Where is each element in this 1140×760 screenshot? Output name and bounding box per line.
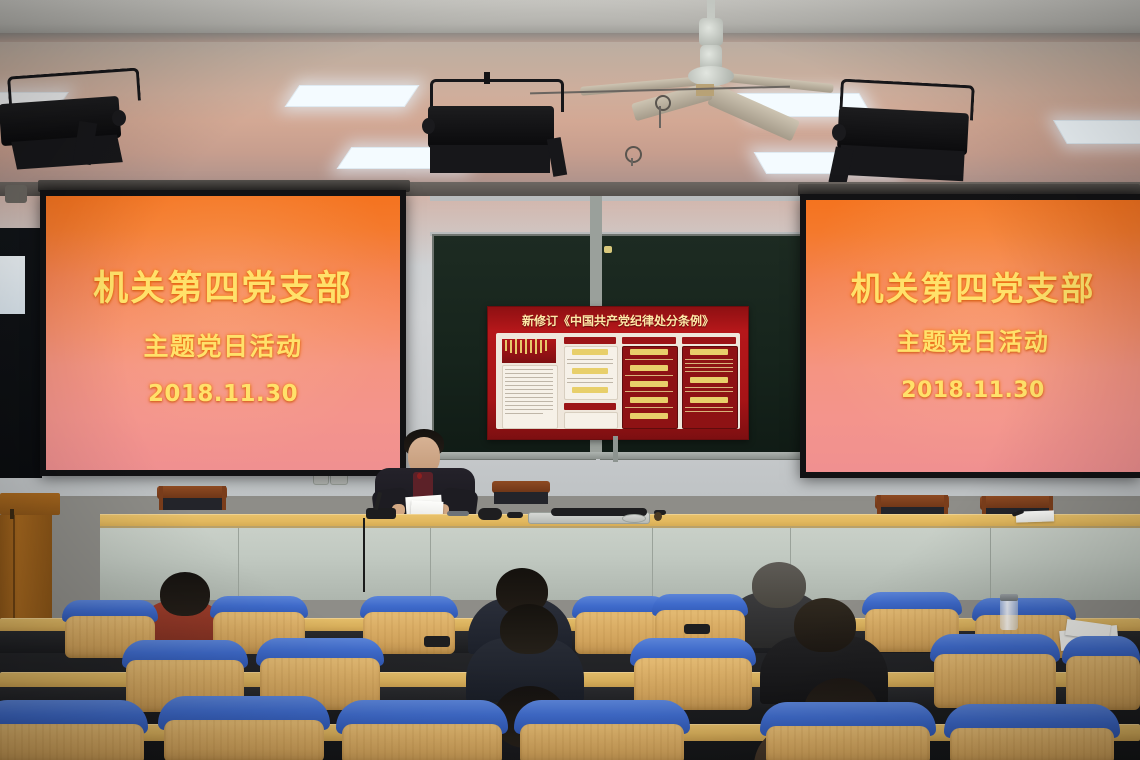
poster-photo-detail [530,340,532,353]
person-head [500,604,558,654]
poster-text-line [685,391,733,392]
audience-chair[interactable] [514,700,690,760]
speaker-collar-pin [417,473,422,479]
poster-chip [630,413,668,419]
ceiling-hook-icon [655,95,671,111]
poster-text-line [505,373,553,374]
desk-object-remote[interactable] [478,508,502,520]
ceiling-hook-icon [625,146,642,163]
ceiling-light-panel [1053,120,1140,144]
poster-text-line [505,381,553,382]
poster-text-line [685,387,733,388]
lectern-clip [10,509,14,519]
person-head [752,562,806,608]
audience-chair[interactable] [930,634,1060,708]
poster-photo-detail [510,340,512,353]
desk-panel-seam [652,528,653,600]
ceiling-fan-hub [688,66,734,86]
water-bottle-cap [1000,594,1018,601]
poster-text-line [625,407,673,408]
party-discipline-poster: 新修订《中国共产党纪律处分条例》 [487,306,749,440]
spotlight-barn-door [430,145,550,173]
desk-phone [684,624,710,634]
slide-title-line2: 主题党日活动 [46,334,400,359]
poster-text-line [685,407,733,408]
poster-column-2-header-2 [564,403,616,410]
spotlight-barn-door [839,145,964,181]
presidium-chair-leg [159,486,163,510]
poster-text-line [685,411,733,412]
desk-panel-seam [990,528,991,600]
poster-column-2b [564,412,618,429]
poster-text-line [685,371,733,372]
poster-hanging-pole [613,436,618,462]
poster-text-line [567,378,613,379]
audience-chair[interactable] [158,696,330,760]
chair-wood-back [164,720,324,760]
poster-chip [572,387,608,393]
lectern [0,515,52,620]
audience-chair[interactable] [944,704,1120,760]
poster-text-line [567,359,613,360]
poster-photo-detail [535,339,537,354]
chalk-piece [604,246,612,253]
blackboard-chalk-tray [430,452,834,459]
presidium-chair-seat [494,492,548,504]
poster-text-line [685,367,733,368]
poster-chip [630,349,668,355]
desk-object-pen [447,511,469,516]
poster-photo-detail [520,340,522,353]
wall-rail [430,196,830,201]
meeting-room-photo: 机关第四党支部 主题党日活动 2018.11.30 机关第四党支部 主题党日活动… [0,0,1140,760]
poster-text-line [505,393,553,394]
desk-panel-seam [238,528,239,600]
poster-text-line [505,413,543,414]
poster-text-line [625,359,673,360]
audience-chair[interactable] [760,702,936,760]
poster-photo-detail [505,340,507,351]
presidium-desk-front [100,528,1140,600]
ceiling-fan-junction-box [696,84,714,96]
poster-text-line [685,363,733,364]
poster-chip [630,365,668,371]
desk-ashtray [622,514,646,523]
microphone-base[interactable] [366,508,396,519]
slide-date: 2018.11.30 [806,380,1140,402]
slide-title-line2: 主题党日活动 [806,330,1140,354]
poster-text-line [505,377,553,378]
poster-text-line [567,363,613,364]
lectern-top [0,493,60,515]
poster-text-line [625,375,673,376]
chair-wood-back [766,726,930,760]
left-wall-window [0,256,25,314]
desk-panel-seam [430,528,431,600]
slide-title-line1: 机关第四党支部 [806,272,1140,305]
chair-wood-back [0,724,144,760]
poster-photo-detail [525,339,527,354]
hanging-wire [659,106,661,128]
poster-text-line [625,391,673,392]
poster-text-line [505,369,553,370]
spotlight-mount [484,72,490,84]
poster-title: 新修订《中国共产党纪律处分条例》 [488,312,748,329]
poster-text-line [505,397,553,398]
poster-column-3-header [622,337,676,344]
poster-text-line [505,401,553,402]
chair-wood-back [520,724,684,760]
chair-wood-back [950,728,1114,760]
poster-text-line [505,405,553,406]
slide-date: 2018.11.30 [46,383,400,406]
poster-chip [630,381,668,387]
poster-text-line [505,409,553,410]
poster-photo-detail [545,340,547,351]
projection-screen-left: 机关第四党支部 主题党日活动 2018.11.30 [46,196,400,470]
poster-chip [572,349,608,355]
person-head [794,598,856,652]
desk-object-pointer[interactable] [507,512,523,518]
projection-screen-right: 机关第四党支部 主题党日活动 2018.11.30 [806,200,1140,472]
poster-chip [572,368,608,374]
poster-chip [690,349,728,355]
audience-chair[interactable] [336,700,508,760]
hanging-wire [631,158,633,166]
presidium-chair-leg [222,486,226,510]
poster-column-2-header [564,337,616,344]
desk-object-small [654,512,662,521]
slide-title-line1: 机关第四党支部 [46,272,400,307]
poster-chip [690,397,728,403]
spotlight-knob [112,110,126,126]
poster-photo-detail [540,340,542,353]
poster-photo-detail [515,339,517,354]
poster-column-4-header [682,337,736,344]
ceiling-fan-motor [699,18,723,46]
ceiling-front-beam [0,0,1140,34]
ceiling-beam-shadow [0,33,1140,42]
spotlight-knob [422,118,435,134]
audience-chair[interactable] [1062,636,1140,710]
left-wall-bracket [5,185,27,203]
chair-wood-back [934,654,1056,708]
spotlight-knob [832,124,846,141]
poster-text-line [505,385,553,386]
chair-wood-back [342,724,502,760]
ceiling-light-panel [285,85,420,107]
water-bottle[interactable] [1000,598,1018,630]
presidium-chair-seat [160,498,224,510]
poster-chip [630,397,668,403]
person-head [160,572,210,616]
desk-phone [424,636,450,647]
poster-text-line [505,389,553,390]
lectern-seam [13,515,15,620]
poster-text-line [567,382,613,383]
poster-chip [690,377,728,383]
poster-text-line [685,359,733,360]
spotlight-center [428,106,554,148]
microphone-cable [363,518,365,592]
chair-wood-back [1066,656,1140,710]
audience-chair[interactable] [0,700,148,760]
